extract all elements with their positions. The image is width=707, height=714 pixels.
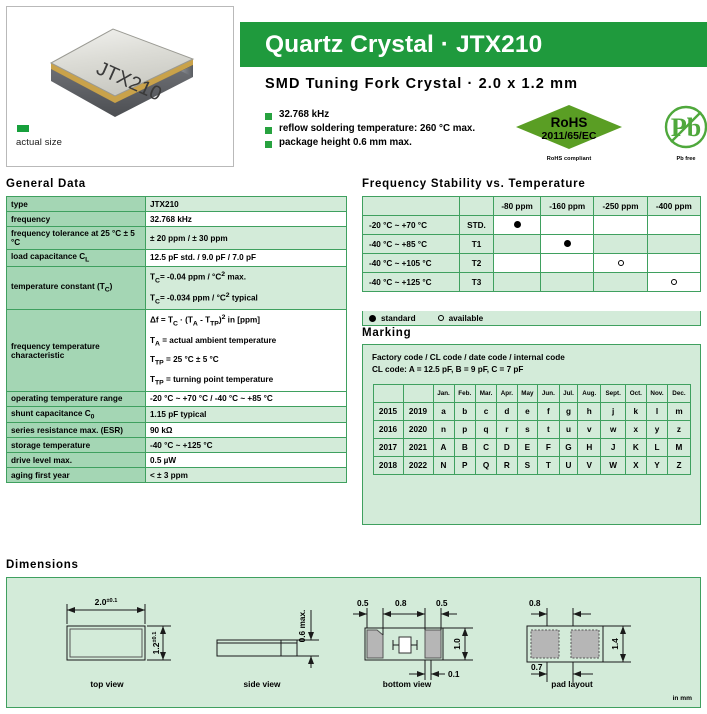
mark-cell-empty: [494, 254, 541, 273]
mark-cell-empty: [594, 273, 647, 292]
bullet-text: package height 0.6 mm max.: [279, 138, 412, 148]
pad-layout-dim-1: 0.7: [531, 662, 543, 672]
feature-bullet-list: 32.768 kHz reflow soldering temperature:…: [265, 110, 475, 151]
bullet-square-icon: [265, 141, 272, 148]
code-cell: A: [433, 438, 454, 456]
code-cell: H: [578, 438, 601, 456]
month-header: Jul.: [559, 384, 578, 402]
code-cell: U: [559, 456, 578, 474]
code-cell: N: [433, 456, 454, 474]
temp-range: -40 °C ~ +105 °C: [363, 254, 460, 273]
code-cell: s: [517, 420, 538, 438]
bottom-view-dim-3: 1.0: [452, 638, 462, 650]
marking-date-code-table: Jan. Feb. Mar. Apr. May Jun. Jul. Aug. S…: [373, 384, 691, 475]
month-header: Feb.: [454, 384, 476, 402]
column-header: -250 ppm: [594, 197, 647, 216]
marking-note-line1: Factory code / CL code / date code / int…: [372, 352, 691, 364]
freq-stability-legend: standard available: [362, 311, 701, 326]
row-value: < ± 3 ppm: [146, 468, 347, 483]
month-header: Sept.: [601, 384, 626, 402]
bottom-view-dim-1: 0.8: [395, 598, 407, 608]
row-value: ± 20 ppm / ± 30 ppm: [146, 227, 347, 250]
list-item: package height 0.6 mm max.: [265, 138, 475, 148]
row-label: frequency temperature characteristic: [7, 310, 146, 391]
code-cell: P: [454, 456, 476, 474]
code-cell: K: [626, 438, 647, 456]
table-row: shunt capacitance C0 1.15 pF typical: [7, 406, 347, 423]
bullet-square-icon: [265, 127, 272, 134]
code-cell: h: [578, 402, 601, 420]
month-header: Oct.: [626, 384, 647, 402]
bullet-text: reflow soldering temperature: 260 °C max…: [279, 124, 475, 134]
table-header-row: Jan. Feb. Mar. Apr. May Jun. Jul. Aug. S…: [373, 384, 690, 402]
dimensions-box: 2.0±0.1 1.2±0.1 top view 0.6 max. side v…: [6, 577, 701, 708]
bottom-view-caption: bottom view: [357, 679, 457, 689]
pb-free-caption: Pb free: [660, 156, 707, 162]
table-row: series resistance max. (ESR) 90 kΩ: [7, 423, 347, 438]
table-row: 2017 2021 A B C D E F G H J K L M: [373, 438, 690, 456]
year-a: 2017: [373, 438, 403, 456]
code-cell: Z: [668, 456, 690, 474]
marking-box: Factory code / CL code / date code / int…: [362, 344, 701, 525]
row-label: load capacitance CL: [7, 250, 146, 267]
year-b: 2019: [403, 402, 433, 420]
option-code: T2: [460, 254, 494, 273]
side-view-height-label: 0.6 max.: [297, 610, 307, 643]
table-row: load capacitance CL 12.5 pF std. / 9.0 p…: [7, 250, 347, 267]
value-line: TC= -0.04 ppm / °C2 max.: [146, 267, 346, 288]
row-label: aging first year: [7, 468, 146, 483]
row-value: 90 kΩ: [146, 423, 347, 438]
table-row: frequency temperature characteristic Δf …: [7, 310, 347, 391]
option-code: T1: [460, 235, 494, 254]
table-row: type JTX210: [7, 197, 347, 212]
marking-note: Factory code / CL code / date code / int…: [363, 345, 700, 377]
month-header: Aug.: [578, 384, 601, 402]
pad-layout-dim-2: 1.4: [610, 638, 620, 650]
corner-cell-code: [460, 197, 494, 216]
pad-layout-drawing: 0.8 1.4 0.7: [507, 586, 677, 686]
code-cell: b: [454, 402, 476, 420]
row-value: -40 °C ~ +125 °C: [146, 438, 347, 453]
side-view-drawing: 0.6 max.: [207, 586, 347, 676]
product-subtitle: SMD Tuning Fork Crystal · 2.0 x 1.2 mm: [265, 76, 578, 92]
temp-range: -20 °C ~ +70 °C: [363, 216, 460, 235]
general-data-heading: General Data: [6, 178, 86, 190]
mark-cell-empty: [647, 216, 700, 235]
page-title: Quartz Crystal · JTX210: [240, 31, 542, 59]
row-value: TC= -0.04 ppm / °C2 max. TC= -0.034 ppm …: [146, 266, 347, 310]
code-cell: E: [517, 438, 538, 456]
table-header-row: -80 ppm -160 ppm -250 ppm -400 ppm: [363, 197, 701, 216]
code-cell: Q: [476, 456, 497, 474]
pad-layout-dim-0: 0.8: [529, 598, 541, 608]
mark-cell-filled: [494, 216, 541, 235]
product-photo-box: JTX210 actual size: [6, 6, 234, 167]
mark-cell-empty: [494, 235, 541, 254]
corner-cell: [363, 197, 460, 216]
pb-free-badge: Pb Pb free: [660, 104, 707, 162]
marking-note-line2: CL code: A = 12.5 pF, B = 9 pF, C = 7 pF: [372, 364, 691, 376]
column-header: -160 ppm: [541, 197, 594, 216]
year-a: 2015: [373, 402, 403, 420]
bottom-view-dim-0: 0.5: [357, 598, 369, 608]
row-label: series resistance max. (ESR): [7, 423, 146, 438]
month-header: Apr.: [497, 384, 518, 402]
code-cell: X: [626, 456, 647, 474]
top-view-width-label: 2.0±0.1: [95, 597, 118, 607]
row-value: 12.5 pF std. / 9.0 pF / 7.0 pF: [146, 250, 347, 267]
legend-standard-label: standard: [381, 314, 416, 323]
mark-cell-empty: [494, 273, 541, 292]
top-view-height-label: 1.2±0.1: [151, 632, 161, 655]
year-a: 2016: [373, 420, 403, 438]
row-value: -20 °C ~ +70 °C / -40 °C ~ +85 °C: [146, 391, 347, 406]
rohs-badge: RoHS 2011/65/EC RoHS compliant: [515, 104, 623, 162]
product-title-band: Quartz Crystal · JTX210: [240, 22, 707, 67]
option-code: T3: [460, 273, 494, 292]
row-value: 32.768 kHz: [146, 212, 347, 227]
rohs-caption: RoHS compliant: [515, 156, 623, 162]
month-header: Jun.: [538, 384, 560, 402]
list-item: 32.768 kHz: [265, 110, 475, 120]
code-cell: M: [668, 438, 690, 456]
general-data-table: type JTX210 frequency 32.768 kHz frequen…: [6, 196, 347, 483]
row-label: frequency tolerance at 25 °C ± 5 °C: [7, 227, 146, 250]
row-label: frequency: [7, 212, 146, 227]
crystal-photo: JTX210: [43, 25, 199, 125]
code-cell: S: [517, 456, 538, 474]
table-row: aging first year < ± 3 ppm: [7, 468, 347, 483]
code-cell: y: [646, 420, 668, 438]
bullet-square-icon: [265, 113, 272, 120]
table-row: frequency tolerance at 25 °C ± 5 °C ± 20…: [7, 227, 347, 250]
month-header: Mar.: [476, 384, 497, 402]
table-row: -40 °C ~ +105 °C T2: [363, 254, 701, 273]
table-row: 2016 2020 n p q r s t u v w x y z: [373, 420, 690, 438]
year-b: 2021: [403, 438, 433, 456]
bullet-text: 32.768 kHz: [279, 110, 329, 120]
code-cell: l: [646, 402, 668, 420]
year-b: 2022: [403, 456, 433, 474]
legend-available-label: available: [449, 314, 484, 323]
code-cell: x: [626, 420, 647, 438]
mark-cell-empty: [541, 254, 594, 273]
table-row: -40 °C ~ +85 °C T1: [363, 235, 701, 254]
row-label: storage temperature: [7, 438, 146, 453]
option-code: STD.: [460, 216, 494, 235]
temp-range: -40 °C ~ +85 °C: [363, 235, 460, 254]
code-cell: G: [559, 438, 578, 456]
month-header: Nov.: [646, 384, 668, 402]
mark-cell-empty: [594, 216, 647, 235]
side-view-caption: side view: [222, 679, 302, 689]
rohs-diamond-icon: RoHS 2011/65/EC: [515, 104, 623, 150]
bottom-view-dim-4: 0.1: [448, 669, 460, 679]
code-cell: u: [559, 420, 578, 438]
code-cell: t: [538, 420, 560, 438]
mark-cell-empty: [594, 235, 647, 254]
month-header: May: [517, 384, 538, 402]
temp-range: -40 °C ~ +125 °C: [363, 273, 460, 292]
value-line: TA = actual ambient temperature: [146, 332, 346, 352]
year-b: 2020: [403, 420, 433, 438]
code-cell: m: [668, 402, 690, 420]
code-cell: V: [578, 456, 601, 474]
mark-cell-filled: [541, 235, 594, 254]
code-cell: j: [601, 402, 626, 420]
code-cell: n: [433, 420, 454, 438]
unit-note: in mm: [673, 695, 692, 702]
value-line: TC= -0.034 ppm / °C2 typical: [146, 288, 346, 309]
top-view-drawing: 2.0±0.1 1.2±0.1: [49, 586, 189, 676]
row-value: 0.5 µW: [146, 453, 347, 468]
code-cell: Y: [646, 456, 668, 474]
code-cell: d: [497, 402, 518, 420]
actual-size-caption: actual size: [16, 137, 62, 148]
month-header: Dec.: [668, 384, 690, 402]
mark-cell-empty: [647, 254, 700, 273]
mark-cell-empty: [647, 235, 700, 254]
code-cell: r: [497, 420, 518, 438]
table-row: 2015 2019 a b c d e f g h j k l m: [373, 402, 690, 420]
code-cell: F: [538, 438, 560, 456]
pad-layout-caption: pad layout: [522, 679, 622, 689]
list-item: reflow soldering temperature: 260 °C max…: [265, 124, 475, 134]
code-cell: C: [476, 438, 497, 456]
corner-cell-year-b: [403, 384, 433, 402]
code-cell: J: [601, 438, 626, 456]
bottom-view-dim-2: 0.5: [436, 598, 448, 608]
top-view-caption: top view: [67, 679, 147, 689]
table-row: frequency 32.768 kHz: [7, 212, 347, 227]
code-cell: p: [454, 420, 476, 438]
code-cell: q: [476, 420, 497, 438]
code-cell: L: [646, 438, 668, 456]
code-cell: T: [538, 456, 560, 474]
value-line: TTP = 25 °C ± 5 °C: [146, 351, 346, 371]
mark-cell-empty: [541, 216, 594, 235]
mark-cell-empty: [541, 273, 594, 292]
code-cell: z: [668, 420, 690, 438]
rohs-line1-text: RoHS: [551, 115, 588, 130]
corner-cell-year-a: [373, 384, 403, 402]
column-header: -80 ppm: [494, 197, 541, 216]
rohs-line2-text: 2011/65/EC: [542, 130, 597, 142]
row-label: temperature constant (TC): [7, 266, 146, 310]
code-cell: k: [626, 402, 647, 420]
row-label: drive level max.: [7, 453, 146, 468]
table-row: -20 °C ~ +70 °C STD.: [363, 216, 701, 235]
freq-stability-heading: Frequency Stability vs. Temperature: [362, 178, 586, 190]
code-cell: W: [601, 456, 626, 474]
year-a: 2018: [373, 456, 403, 474]
value-line: Δf = TC · (TA - TTP)2 in [ppm]: [146, 310, 346, 331]
bottom-view-drawing: 0.5 0.8 0.5 1.0 0.1: [347, 586, 517, 686]
compliance-badges: RoHS 2011/65/EC RoHS compliant Pb Pb fre…: [505, 104, 700, 166]
code-cell: f: [538, 402, 560, 420]
month-header: Jan.: [433, 384, 454, 402]
table-row: storage temperature -40 °C ~ +125 °C: [7, 438, 347, 453]
mark-cell-open: [594, 254, 647, 273]
code-cell: c: [476, 402, 497, 420]
code-cell: e: [517, 402, 538, 420]
code-cell: B: [454, 438, 476, 456]
row-label: type: [7, 197, 146, 212]
mark-cell-open: [647, 273, 700, 292]
row-label: shunt capacitance C0: [7, 406, 146, 423]
table-row: temperature constant (TC) TC= -0.04 ppm …: [7, 266, 347, 310]
marking-heading: Marking: [362, 327, 411, 339]
actual-size-swatch: [17, 125, 29, 132]
header: JTX210 actual size Quartz Crystal · JTX2…: [0, 0, 707, 172]
frequency-stability-table: -80 ppm -160 ppm -250 ppm -400 ppm -20 °…: [362, 196, 701, 292]
pb-free-icon: Pb: [662, 104, 707, 150]
open-dot-icon: [438, 315, 444, 321]
code-cell: D: [497, 438, 518, 456]
row-label: operating temperature range: [7, 391, 146, 406]
table-row: -40 °C ~ +125 °C T3: [363, 273, 701, 292]
table-row: drive level max. 0.5 µW: [7, 453, 347, 468]
value-line: TTP = turning point temperature: [146, 371, 346, 391]
row-value: 1.15 pF typical: [146, 406, 347, 423]
table-row: operating temperature range -20 °C ~ +70…: [7, 391, 347, 406]
code-cell: v: [578, 420, 601, 438]
code-cell: w: [601, 420, 626, 438]
filled-dot-icon: [369, 315, 376, 322]
table-row: 2018 2022 N P Q R S T U V W X Y Z: [373, 456, 690, 474]
row-value: Δf = TC · (TA - TTP)2 in [ppm] TA = actu…: [146, 310, 347, 391]
row-value: JTX210: [146, 197, 347, 212]
dimensions-heading: Dimensions: [6, 559, 79, 571]
column-header: -400 ppm: [647, 197, 700, 216]
code-cell: R: [497, 456, 518, 474]
code-cell: g: [559, 402, 578, 420]
code-cell: a: [433, 402, 454, 420]
